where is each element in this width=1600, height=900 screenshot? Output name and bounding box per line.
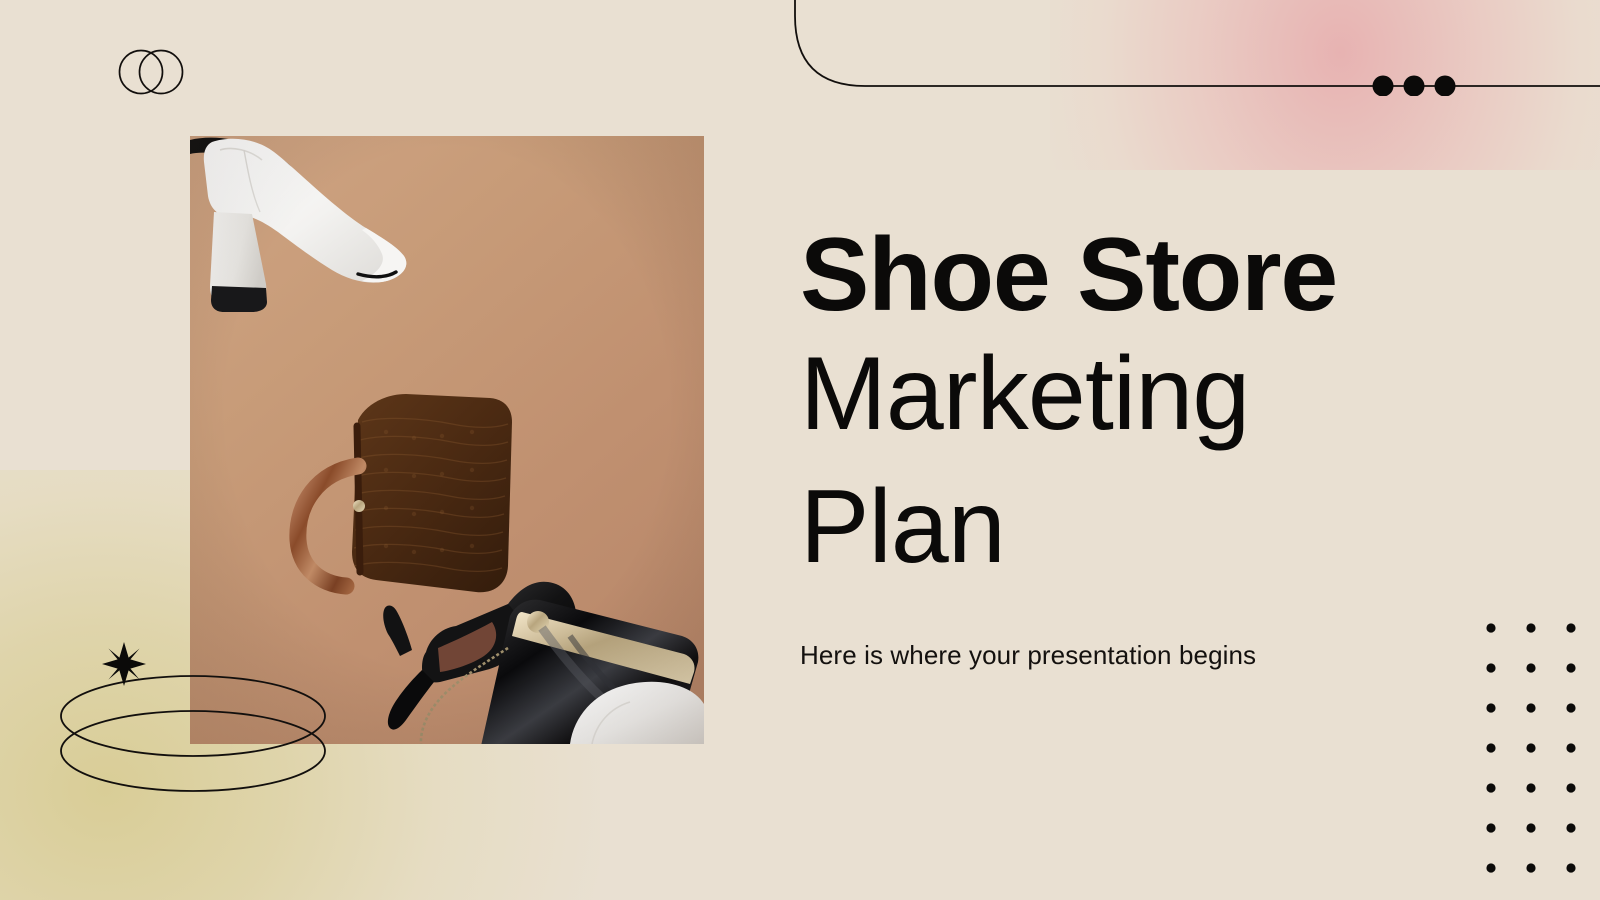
three-dots-icon (1373, 76, 1456, 97)
title-slide: Shoe Store Marketing Plan Here is where … (0, 0, 1600, 900)
rounded-corner-line-icon (795, 0, 1600, 86)
title-text-block: Shoe Store Marketing Plan Here is where … (800, 222, 1500, 671)
sparkle-star-icon (102, 642, 146, 686)
page-title-line-1: Shoe Store (800, 222, 1500, 328)
slide-subtitle: Here is where your presentation begins (800, 594, 1500, 671)
top-line-decoration (770, 0, 1600, 96)
page-title-line-3: Plan (800, 461, 1500, 594)
page-title-line-2: Marketing (800, 328, 1500, 461)
venn-circles-icon (118, 47, 184, 97)
double-ellipse-icon (61, 676, 325, 756)
orbit-decoration (48, 638, 338, 808)
